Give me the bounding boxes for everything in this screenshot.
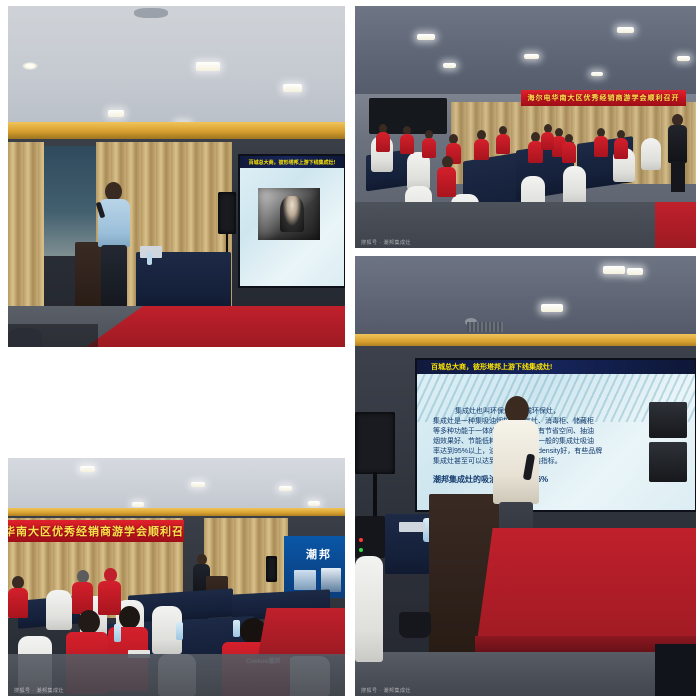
ceiling-light [603, 266, 625, 274]
ceiling-grille [467, 322, 503, 332]
ceiling [355, 6, 696, 98]
mixer-led [359, 548, 363, 552]
screen-photo-figure [280, 196, 304, 232]
ceiling-light [417, 34, 435, 40]
product-photo [649, 402, 687, 438]
floor-speaker [266, 556, 277, 582]
waste-bin [399, 612, 431, 638]
attendee [473, 130, 490, 164]
ceiling-light [308, 501, 320, 506]
blue-projection-screen: 潮邦 [284, 536, 345, 598]
watermark: 搜狐号 · 潮邦集成灶 [14, 687, 64, 694]
host-trousers [671, 161, 685, 192]
dark-table-right [655, 644, 696, 696]
attendee [561, 134, 577, 168]
ceiling-light [617, 27, 634, 33]
window [44, 146, 96, 256]
ceiling-light [627, 268, 643, 275]
foreground-attendee [8, 328, 42, 347]
chair [563, 166, 586, 204]
screen-banner-text: 百城总大商，彼形塔邦上游下线集成灶! [417, 360, 695, 374]
attendee-vest [562, 142, 576, 163]
attendee-head [78, 610, 100, 634]
ceiling-light [279, 486, 292, 491]
attendee-vest [437, 167, 456, 197]
panel-bottom-right: 百城总大商，彼形塔邦上游下线集成灶! 集成灶也叫环保灶、集成环保灶， 集成灶是一… [355, 256, 696, 696]
mixer-led [359, 538, 363, 542]
ceiling-vent [134, 8, 168, 18]
host [667, 114, 689, 194]
watermark: 搜狐号 · 潮邦集成灶 [361, 687, 411, 694]
watermark: 搜狐号 · 潮邦集成灶 [361, 239, 411, 246]
cove-lighting [8, 122, 345, 139]
attendee [437, 156, 457, 204]
laptop [399, 522, 425, 532]
attendee-vest [496, 134, 510, 154]
ceiling-light [524, 54, 539, 59]
ceiling-light [108, 110, 124, 117]
host-suit [668, 125, 687, 163]
photo-collage: 百城总大商，彼形塔邦上游下线集成灶! [0, 0, 700, 700]
attendee-head [119, 606, 140, 629]
ceiling-light [677, 56, 690, 61]
water-bottle [176, 622, 183, 640]
ceiling-light [22, 62, 38, 70]
attendee-vest [422, 138, 436, 158]
attendee [421, 130, 437, 162]
panel-top-right: 海尔电华南大区优秀经销商游学会顺利召开 [355, 6, 696, 248]
attendee [541, 124, 555, 152]
presenter-shirt [98, 199, 130, 247]
floor-speaker [218, 192, 236, 234]
floor-speaker [355, 412, 395, 474]
attendee [613, 130, 629, 164]
attendee [593, 128, 609, 162]
red-carpet-strip [655, 202, 696, 248]
projection-screen: 百城总大商，彼形塔邦上游下线集成灶! [240, 156, 344, 286]
blue-screen-brand: 潮邦 [306, 546, 332, 562]
attendee [495, 126, 511, 158]
chair [641, 138, 661, 170]
ceiling-light [541, 304, 563, 312]
presenter [94, 182, 136, 324]
attendee-vest [8, 588, 28, 618]
attendee [375, 124, 391, 156]
ceiling-light [591, 72, 603, 76]
attendee-vest [594, 136, 608, 157]
attendee-vest [474, 139, 489, 160]
ceiling-light [80, 466, 95, 472]
chair [355, 556, 383, 662]
event-banner: 海尔电华南大区优秀经销商游学会顺利召开 [521, 90, 686, 106]
red-stage-carpet [258, 608, 345, 656]
attendee-vest [376, 132, 390, 152]
event-banner: 电华南大区优秀经销商游学会顺利召开 [8, 520, 184, 542]
attendee [399, 126, 415, 158]
panel-bottom-left: 电华南大区优秀经销商游学会顺利召开 潮邦 [8, 458, 345, 696]
ceiling-light [443, 63, 456, 68]
attendee [8, 576, 30, 628]
curtain-left [8, 142, 44, 332]
attendee-head [104, 568, 117, 582]
screen-banner-text: 百城总大商，彼形塔邦上游下线集成灶! [240, 156, 344, 168]
product-photo [649, 442, 687, 482]
ceiling-light [191, 482, 205, 487]
attendee-vest [400, 134, 414, 154]
ceiling-light [132, 502, 144, 507]
water-bottle [233, 620, 240, 637]
attendee-vest [541, 132, 554, 150]
presenter-trousers [101, 245, 127, 310]
speaker-stand [373, 472, 377, 520]
water-bottle [114, 624, 121, 642]
ceiling-light [283, 84, 302, 92]
water-bottle [147, 252, 152, 265]
product-image [294, 570, 316, 590]
panel-top-left: 百城总大商，彼形塔邦上游下线集成灶! [8, 6, 345, 347]
ceiling-light [196, 62, 220, 71]
attendee-vest [614, 138, 628, 159]
product-image [321, 568, 341, 592]
projection-screen: 百城总大商，彼形塔邦上游下线集成灶! 集成灶也叫环保灶、集成环保灶， 集成灶是一… [417, 360, 695, 510]
